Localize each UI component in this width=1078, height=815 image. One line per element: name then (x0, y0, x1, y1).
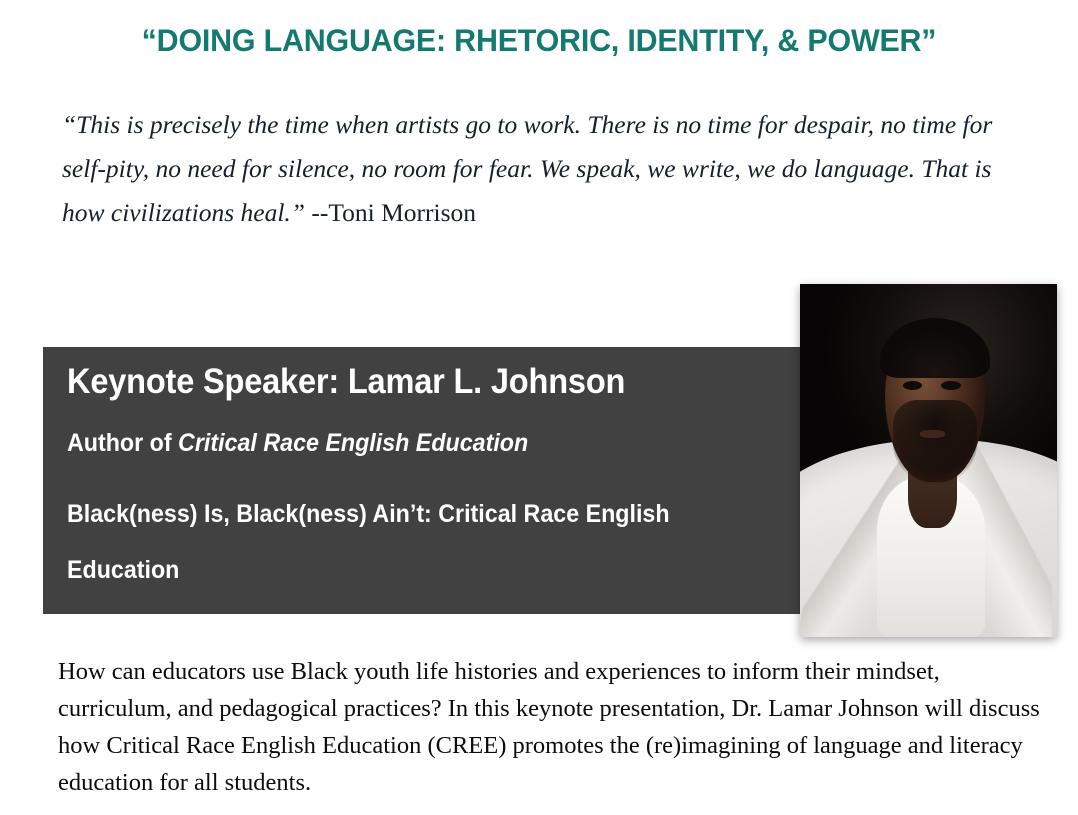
page-title: “DOING LANGUAGE: RHETORIC, IDENTITY, & P… (19, 22, 1059, 59)
photo-lips (920, 430, 946, 438)
pull-quote: “This is precisely the time when artists… (62, 103, 1030, 235)
photo-beard (893, 400, 978, 485)
speaker-talk-title: Black(ness) Is, Black(ness) Ain’t: Criti… (67, 486, 718, 598)
speaker-photo (800, 284, 1057, 637)
quote-attribution: --Toni Morrison (305, 198, 476, 227)
speaker-name: Keynote Speaker: Lamar L. Johnson (67, 362, 625, 402)
speaker-book-title: Critical Race English Education (178, 429, 528, 457)
quote-text: “This is precisely the time when artists… (62, 110, 992, 227)
photo-eye-right (941, 381, 960, 390)
speaker-author-line: Author of Critical Race English Educatio… (67, 429, 528, 458)
session-description: How can educators use Black youth life h… (58, 653, 1043, 801)
speaker-author-prefix: Author of (67, 429, 178, 457)
keynote-speaker-panel: Keynote Speaker: Lamar L. Johnson Author… (43, 347, 800, 614)
